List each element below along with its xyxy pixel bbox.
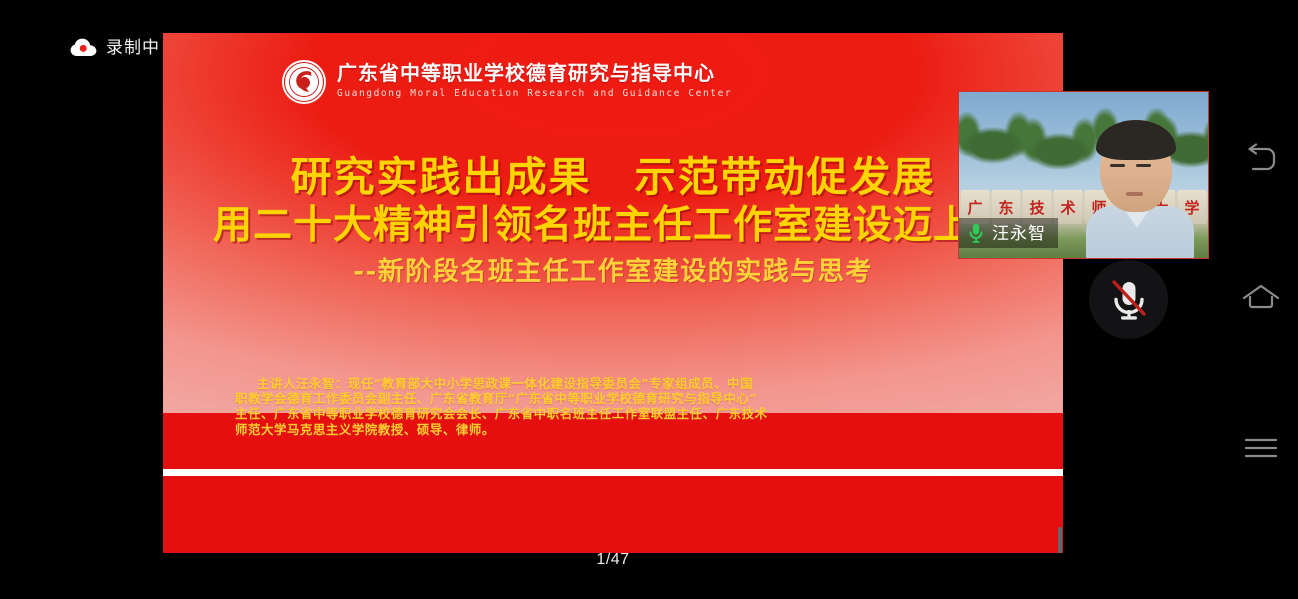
recents-icon	[1244, 437, 1278, 459]
mute-toggle-button[interactable]	[1089, 260, 1168, 339]
speaker-eye	[1136, 164, 1151, 167]
slide-canvas[interactable]: 广东省中等职业学校德育研究与指导中心 Guangdong Moral Educa…	[163, 33, 1063, 553]
presenter-bio-line: 职教学会德育工作委员会副主任、广东省教育厅“广东省中等职业学校德育研究与指导中心…	[235, 391, 963, 406]
microphone-on-icon	[967, 222, 985, 244]
app-root: 录制中 广东省中等职业学校德育研究与指导中心	[0, 0, 1298, 599]
presentation-stage[interactable]: 广东省中等职业学校德育研究与指导中心 Guangdong Moral Educa…	[163, 33, 1063, 553]
home-button[interactable]	[1224, 268, 1298, 328]
recording-cloud-icon	[70, 38, 97, 57]
presenter-bio: 主讲人汪永智：现任“教育部大中小学思政课一体化建设指导委员会”专家组成员、中国 …	[235, 376, 963, 437]
participant-name-badge: 汪永智	[959, 218, 1058, 248]
organization-title-cn: 广东省中等职业学校德育研究与指导中心	[337, 63, 715, 85]
speaker-portrait	[1084, 118, 1196, 259]
organization-title: 广东省中等职业学校德育研究与指导中心 Guangdong Moral Educa…	[337, 64, 1063, 100]
slide-title-line-1: 研究实践出成果 示范带动促发展	[163, 153, 1063, 201]
participant-name: 汪永智	[992, 225, 1046, 242]
slide-header: 广东省中等职业学校德育研究与指导中心 Guangdong Moral Educa…	[281, 59, 1063, 105]
page-indicator: 1/47	[163, 551, 1063, 569]
organization-title-en: Guangdong Moral Education Research and G…	[337, 88, 732, 99]
android-navigation-bar	[1224, 0, 1298, 599]
presenter-bio-line: 主任、广东省中等职业学校德育研究会会长、广东省中职名班主任工作室联盟主任、广东技…	[235, 406, 963, 421]
recents-button[interactable]	[1224, 418, 1298, 478]
speaker-hair	[1096, 120, 1176, 160]
recording-label: 录制中	[106, 39, 160, 56]
participant-video-tile[interactable]: 广 东 技 术 师 范 大 学	[958, 91, 1209, 259]
speaker-eye	[1110, 164, 1125, 167]
presenter-bio-line: 主讲人汪永智：现任“教育部大中小学思政课一体化建设指导委员会”专家组成员、中国	[235, 376, 963, 391]
back-icon	[1244, 143, 1278, 173]
stone-character: 术	[1054, 190, 1082, 224]
slide-subtitle: --新阶段名班主任工作室建设的实践与思考	[163, 256, 1063, 289]
microphone-muted-icon	[1108, 277, 1150, 323]
slide-title-block: 研究实践出成果 示范带动促发展 用二十大精神引领名班主任工作室建设迈上新 --新…	[163, 153, 1063, 289]
home-icon	[1242, 284, 1280, 312]
organization-seal-icon	[281, 59, 327, 105]
speaker-mouth	[1126, 192, 1143, 196]
back-button[interactable]	[1224, 128, 1298, 188]
presenter-bio-line: 师范大学马克思主义学院教授、硕导、律师。	[235, 422, 963, 437]
slide-scrollbar[interactable]	[1058, 527, 1062, 553]
slide-title-line-2: 用二十大精神引领名班主任工作室建设迈上新	[163, 203, 1063, 250]
recording-indicator: 录制中	[70, 38, 160, 57]
